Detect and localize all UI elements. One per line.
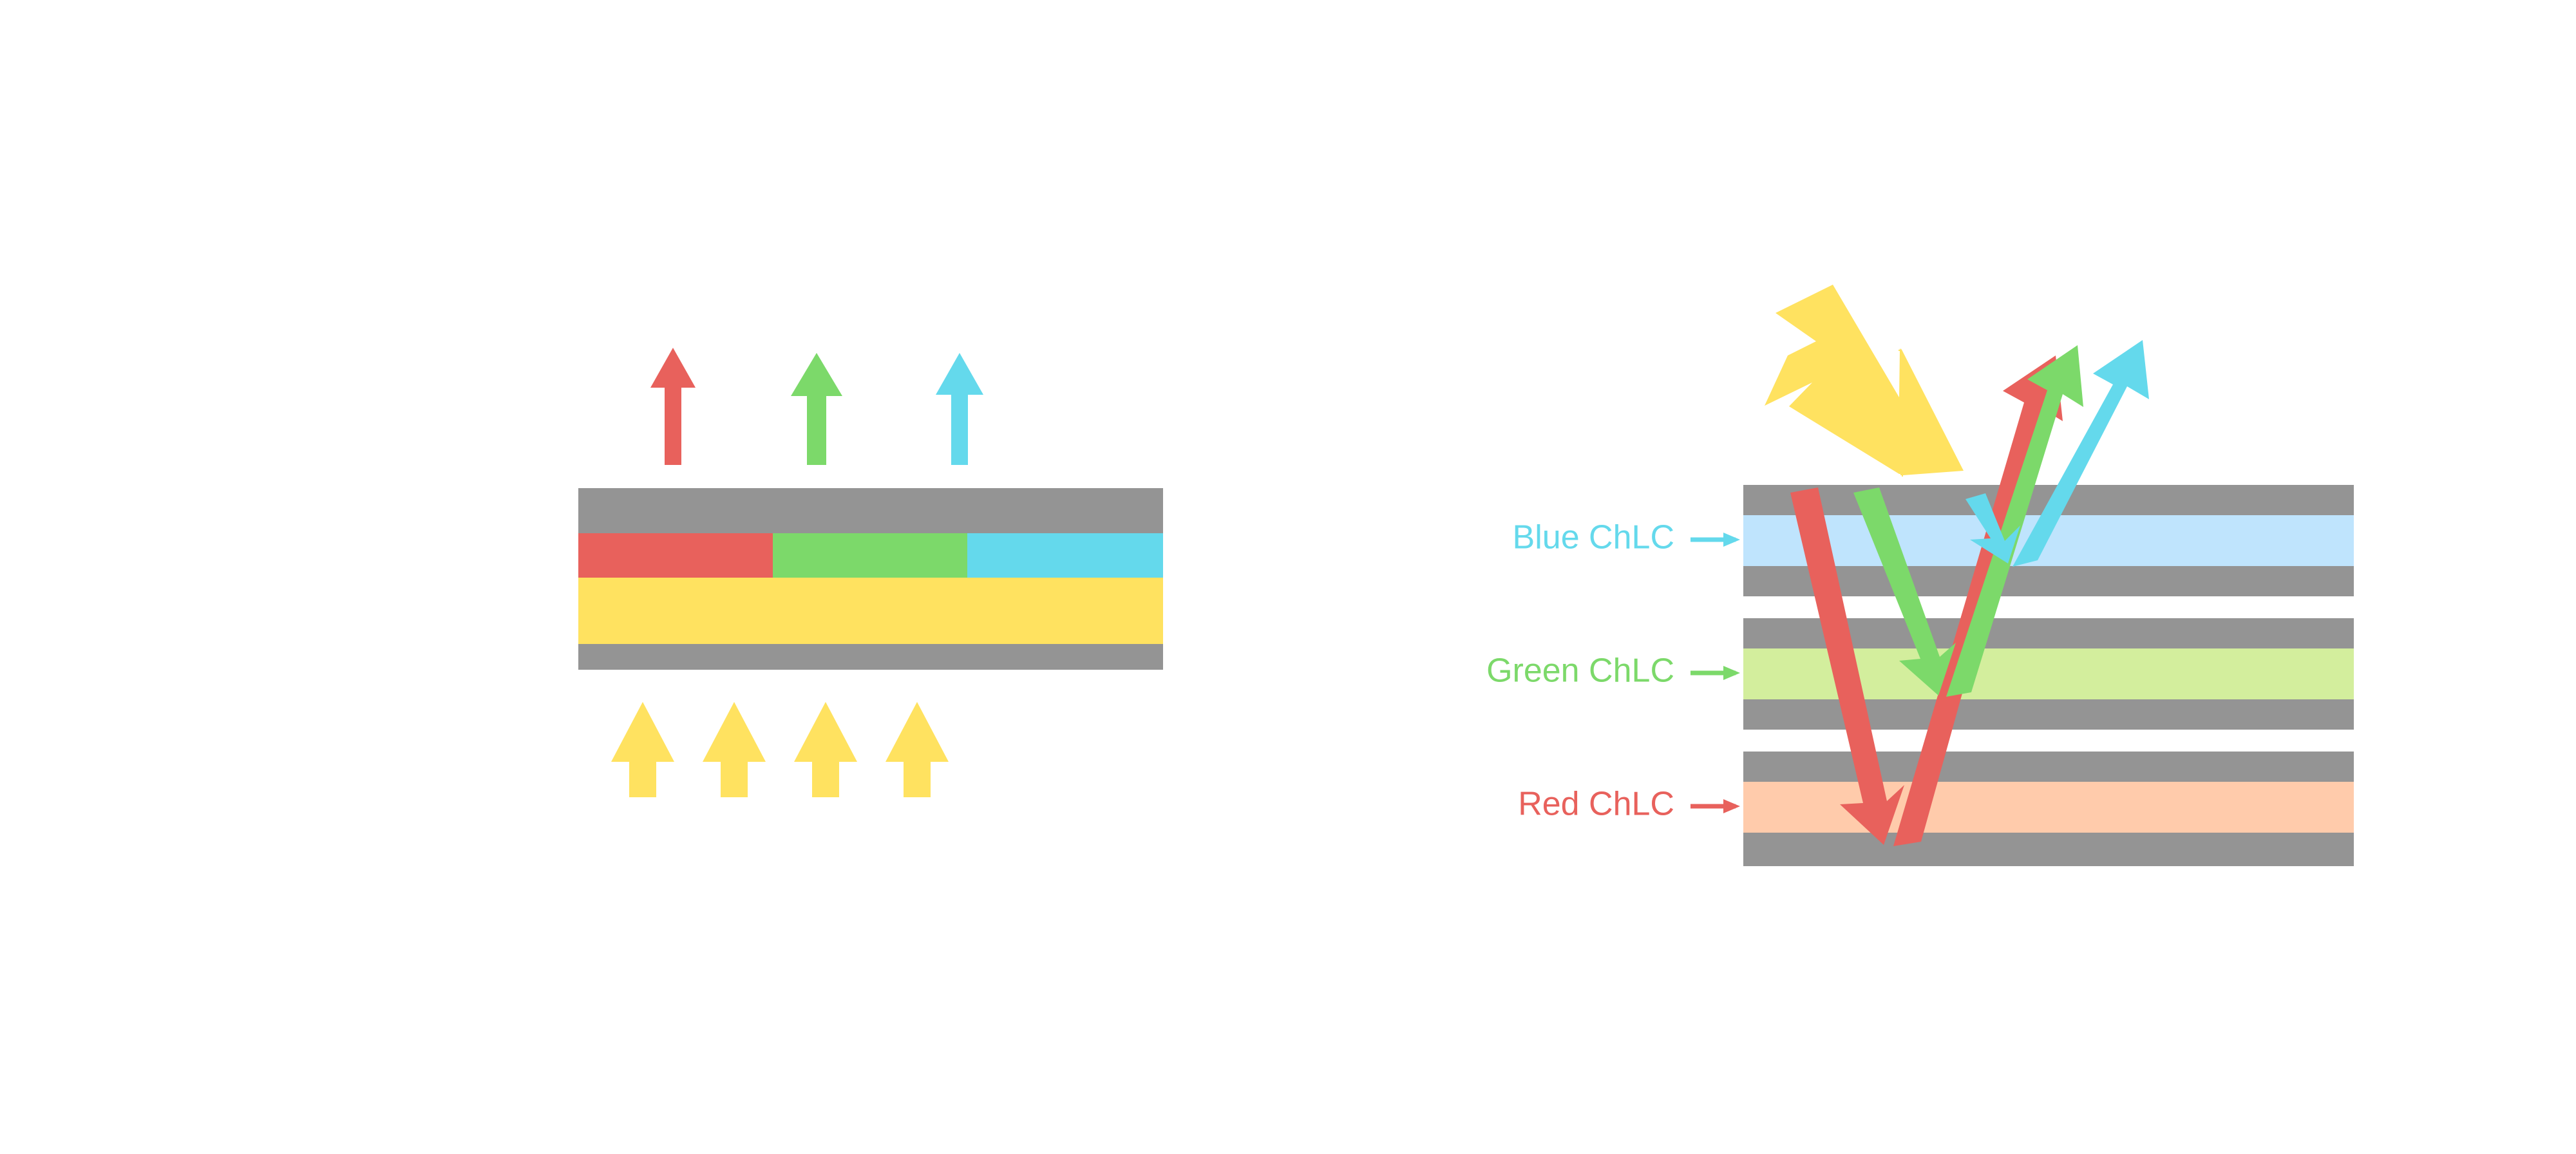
green-chlc-label-text: Green ChLC bbox=[1486, 652, 1674, 690]
right-panel-reflective-chlc-stack: Blue ChLC Green ChLC Red ChLC bbox=[1486, 279, 2354, 866]
layer-electrode-red-top bbox=[1743, 752, 2354, 782]
backlight-arrow-4 bbox=[885, 702, 949, 797]
layer-bottom-electrode bbox=[578, 644, 1163, 670]
layer-yellow-backlight bbox=[578, 578, 1163, 644]
layer-gap-green-red bbox=[1743, 730, 2354, 752]
yellow-backlight-arrows bbox=[611, 702, 949, 797]
layer-electrode-bottom bbox=[1743, 833, 2354, 866]
red-emitted-arrow bbox=[650, 348, 696, 465]
diagram-canvas: Blue ChLC Green ChLC Red ChLC bbox=[0, 0, 2576, 1154]
red-chlc-label-text: Red ChLC bbox=[1518, 786, 1674, 823]
green-chlc-label: Green ChLC bbox=[1486, 652, 1740, 690]
layer-top-electrode bbox=[578, 488, 1163, 533]
blue-chlc-label: Blue ChLC bbox=[1513, 519, 1740, 556]
layer-blue-filter bbox=[967, 533, 1163, 578]
green-emitted-arrow bbox=[791, 353, 842, 465]
backlight-arrow-2 bbox=[703, 702, 766, 797]
blue-chlc-label-arrow-icon bbox=[1690, 533, 1740, 547]
blue-emitted-arrow bbox=[936, 353, 983, 465]
left-panel-transmissive-stack bbox=[578, 348, 1163, 797]
red-chlc-label: Red ChLC bbox=[1518, 786, 1740, 823]
layer-red-chlc bbox=[1743, 782, 2354, 833]
left-layer-stack bbox=[578, 488, 1163, 670]
green-chlc-label-arrow-icon bbox=[1690, 666, 1740, 680]
layer-red-filter bbox=[578, 533, 773, 578]
blue-chlc-label-text: Blue ChLC bbox=[1513, 519, 1674, 556]
backlight-arrow-3 bbox=[794, 702, 857, 797]
chlc-display-diagram: Blue ChLC Green ChLC Red ChLC bbox=[0, 0, 2576, 1154]
red-chlc-label-arrow-icon bbox=[1690, 799, 1740, 813]
backlight-arrow-1 bbox=[611, 702, 674, 797]
layer-electrode-green-bottom bbox=[1743, 699, 2354, 730]
layer-green-filter bbox=[773, 533, 967, 578]
